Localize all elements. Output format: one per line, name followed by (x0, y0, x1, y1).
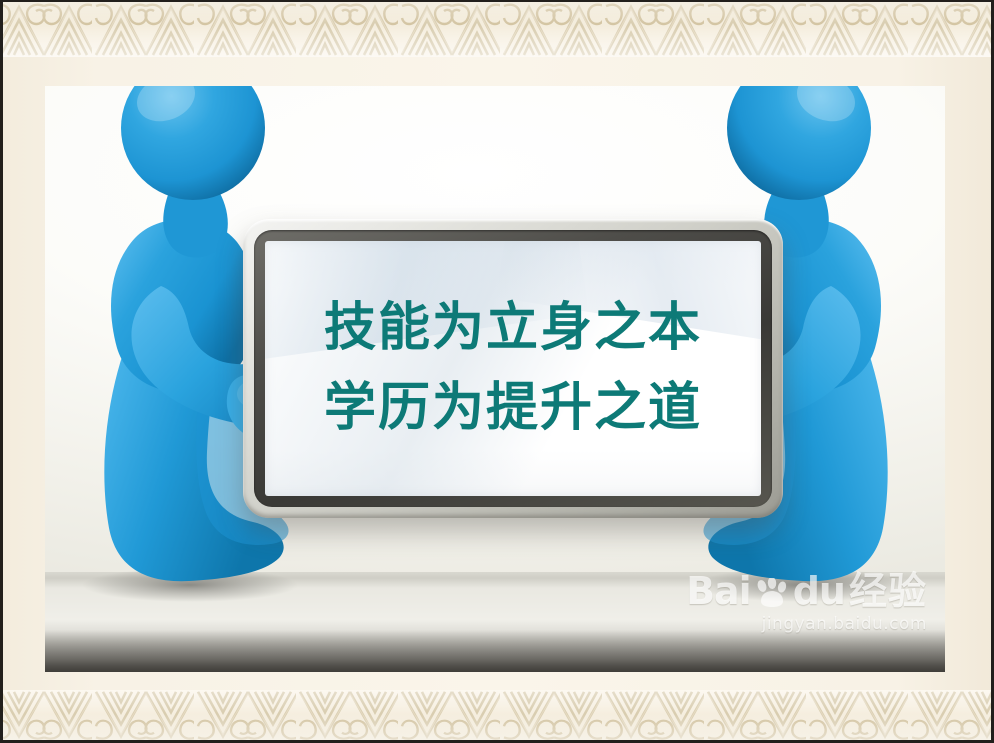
baidu-watermark: Bai du 经验 jingyan.baidu.com (686, 572, 927, 634)
border-motif (704, 690, 806, 743)
bottom-decorative-border (0, 690, 994, 743)
border-motif (0, 690, 92, 743)
photo-frame: 技能为立身之本 学历为提升之道 Bai du 经验 jingyan (45, 86, 945, 672)
border-motif (0, 0, 92, 57)
top-decorative-border (0, 0, 994, 57)
border-motif (194, 690, 296, 743)
border-motif (602, 690, 704, 743)
border-motif (908, 0, 994, 57)
border-motif (92, 690, 194, 743)
page-edge-left (0, 0, 3, 743)
border-motif (806, 690, 908, 743)
watermark-bai-text: Bai (686, 572, 751, 610)
whiteboard-face: 技能为立身之本 学历为提升之道 (265, 241, 761, 496)
watermark-du-text: du (793, 572, 845, 610)
page-edge-top (0, 0, 994, 2)
slide-canvas: 技能为立身之本 学历为提升之道 Bai du 经验 jingyan (0, 0, 994, 743)
border-motif (806, 0, 908, 57)
border-motif (602, 0, 704, 57)
border-motif (92, 0, 194, 57)
watermark-cn-text: 经验 (849, 572, 927, 610)
border-motif (296, 690, 398, 743)
border-motif (704, 0, 806, 57)
border-motif (194, 0, 296, 57)
slogan-line-2: 学历为提升之道 (324, 377, 702, 440)
slogan-line-1: 技能为立身之本 (324, 297, 702, 360)
floor-shadow (45, 630, 945, 672)
baidu-paw-icon (755, 576, 789, 606)
whiteboard: 技能为立身之本 学历为提升之道 (243, 219, 783, 518)
border-motif (500, 0, 602, 57)
border-motif (908, 690, 994, 743)
border-motif (500, 690, 602, 743)
watermark-url: jingyan.baidu.com (686, 614, 927, 634)
border-motif (398, 690, 500, 743)
border-motif (398, 0, 500, 57)
border-motif (296, 0, 398, 57)
